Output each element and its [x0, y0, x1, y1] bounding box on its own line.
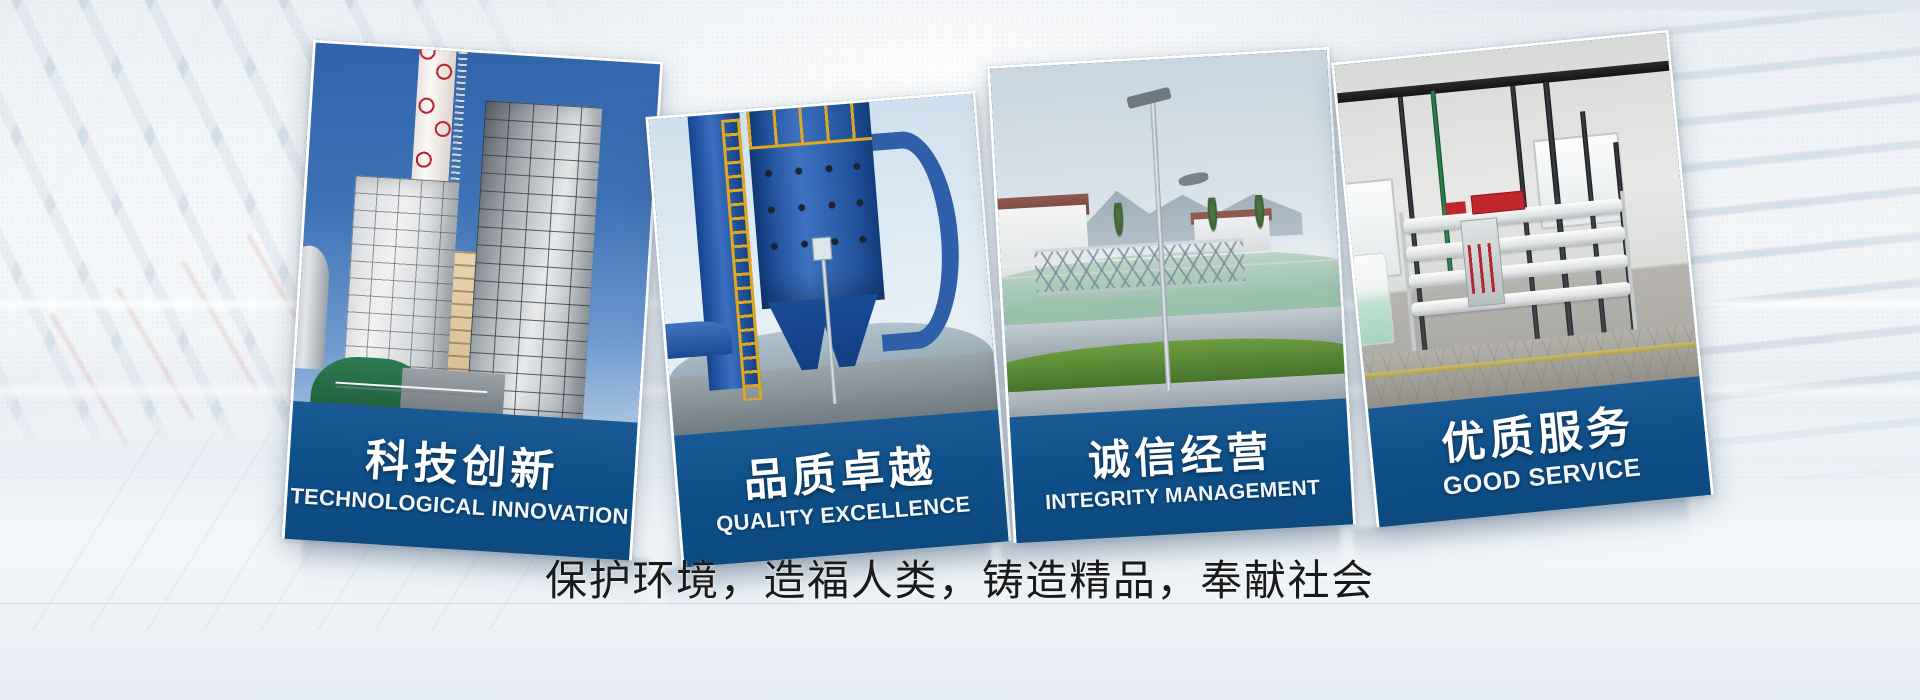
scene-dust-collector	[649, 94, 999, 439]
card-title-cn-quality-excellence: 品质卓越	[742, 444, 939, 503]
card-photo-quality-excellence	[649, 94, 999, 439]
card-title-cn-technological-innovation: 科技创新	[364, 438, 560, 494]
card-photo-good-service	[1334, 33, 1699, 412]
card-title-en-integrity-management: INTEGRITY MANAGEMENT	[1045, 477, 1321, 513]
scene-industrial-stack	[293, 43, 660, 426]
card-photo-technological-innovation	[293, 43, 660, 426]
scene-ro-water-treatment	[1334, 33, 1699, 412]
card-label-quality-excellence: 品质卓越 QUALITY EXCELLENCE	[674, 410, 1009, 568]
scene-wastewater-plant	[990, 50, 1346, 420]
card-label-technological-innovation: 科技创新 TECHNOLOGICAL INNOVATION	[285, 401, 638, 560]
card-photo-integrity-management	[990, 50, 1346, 420]
value-card-integrity-management[interactable]: 诚信经营 INTEGRITY MANAGEMENT	[987, 47, 1356, 543]
value-card-quality-excellence[interactable]: 品质卓越 QUALITY EXCELLENCE	[645, 90, 1011, 567]
value-card-technological-innovation[interactable]: 科技创新 TECHNOLOGICAL INNOVATION	[282, 39, 664, 560]
company-values-banner: 科技创新 TECHNOLOGICAL INNOVATION	[0, 0, 1920, 700]
value-card-good-service[interactable]: 优质服务 GOOD SERVICE	[1331, 30, 1714, 528]
card-title-cn-integrity-management: 诚信经营	[1087, 431, 1274, 483]
banner-tagline: 保护环境，造福人类，铸造精品，奉献社会	[0, 560, 1920, 602]
card-label-integrity-management: 诚信经营 INTEGRITY MANAGEMENT	[1010, 398, 1354, 543]
card-title-en-technological-innovation: TECHNOLOGICAL INNOVATION	[290, 484, 629, 527]
